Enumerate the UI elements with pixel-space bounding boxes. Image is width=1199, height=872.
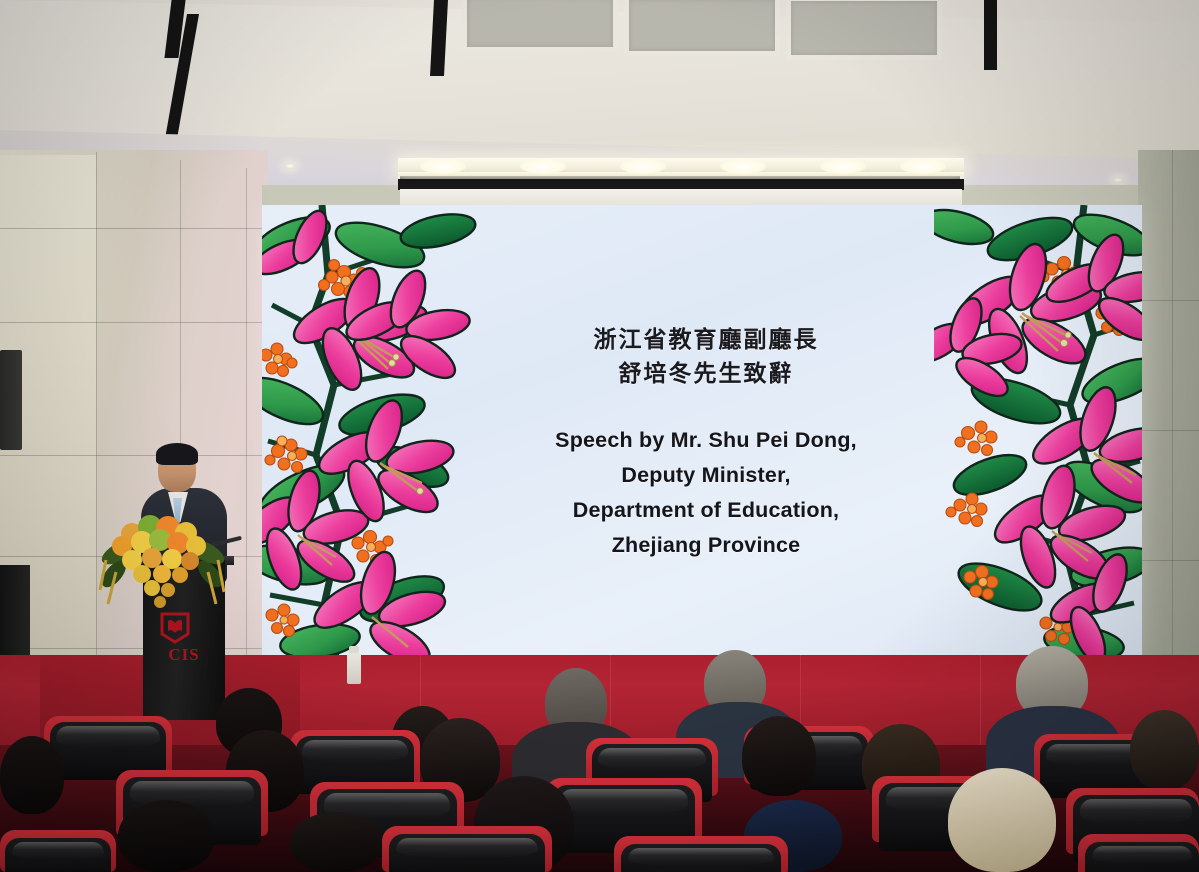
screen-hood (400, 189, 962, 205)
chair-highlight (12, 842, 104, 860)
conference-hall-scene: 浙江省教育廳副廳長 舒培冬先生致辭 Speech by Mr. Shu Pei … (0, 0, 1199, 872)
wall-panel-line (1172, 150, 1173, 730)
slide-english-line-4: Zhejiang Province (555, 528, 857, 563)
slide-english-line-1: Speech by Mr. Shu Pei Dong, (555, 423, 857, 458)
slide-text-area: 浙江省教育廳副廳長 舒培冬先生致辭 Speech by Mr. Shu Pei … (478, 205, 934, 657)
wall-panel-line (0, 648, 268, 649)
floral-artwork-left (262, 205, 478, 657)
water-bottle-cap (349, 646, 359, 653)
water-bottle (347, 652, 361, 684)
wall-panel-line (1138, 430, 1199, 431)
wall-loudspeaker (0, 350, 22, 450)
led-presentation-screen[interactable]: 浙江省教育廳副廳長 舒培冬先生致辭 Speech by Mr. Shu Pei … (262, 205, 1142, 657)
podium-flower-arrangement (98, 512, 226, 622)
slide-chinese-line-1: 浙江省教育廳副廳長 (594, 323, 819, 357)
wall-panel-line (246, 168, 247, 713)
ceiling-black-strip (984, 0, 997, 70)
audience-head (118, 800, 214, 872)
podium-logo-text: CIS (143, 645, 225, 665)
chair-highlight (396, 838, 538, 858)
wall-panel-line (0, 455, 268, 456)
chair-highlight (598, 748, 706, 770)
slide-chinese-line-2: 舒培冬先生致辭 (619, 357, 794, 391)
bauhinia-osmanthus-svg-right (934, 205, 1142, 657)
chair-highlight (1092, 846, 1192, 864)
floral-artwork-right (934, 205, 1142, 657)
wall-right (1138, 150, 1199, 730)
ceiling-tile (786, 0, 942, 60)
downlight-icon (1112, 177, 1124, 183)
slide-english-block: Speech by Mr. Shu Pei Dong, Deputy Minis… (555, 423, 857, 563)
wall-panel-line (1138, 560, 1199, 561)
wall-panel-line (0, 228, 268, 229)
slide-english-line-2: Deputy Minister, (555, 458, 857, 493)
audience-head (742, 716, 816, 796)
chair-highlight (560, 789, 688, 815)
chair-highlight (56, 726, 160, 748)
audience-head (1130, 710, 1199, 790)
chair-highlight (628, 848, 774, 866)
audience-head (948, 768, 1056, 872)
ceiling-tile (462, 0, 618, 52)
audience-head (290, 812, 382, 872)
wall-panel-line (0, 322, 268, 323)
podium-bouquet-svg (98, 512, 226, 622)
chair-highlight (302, 740, 408, 762)
ceiling-tile (624, 0, 780, 56)
audience-head (0, 736, 64, 814)
bauhinia-osmanthus-svg-left (262, 205, 478, 657)
presenter-hair (156, 443, 198, 465)
wall-panel-line (96, 152, 97, 710)
slide-english-line-3: Department of Education, (555, 493, 857, 528)
wall-panel-line (1138, 300, 1199, 301)
chair-highlight (1080, 799, 1192, 825)
downlight-icon (284, 163, 296, 169)
